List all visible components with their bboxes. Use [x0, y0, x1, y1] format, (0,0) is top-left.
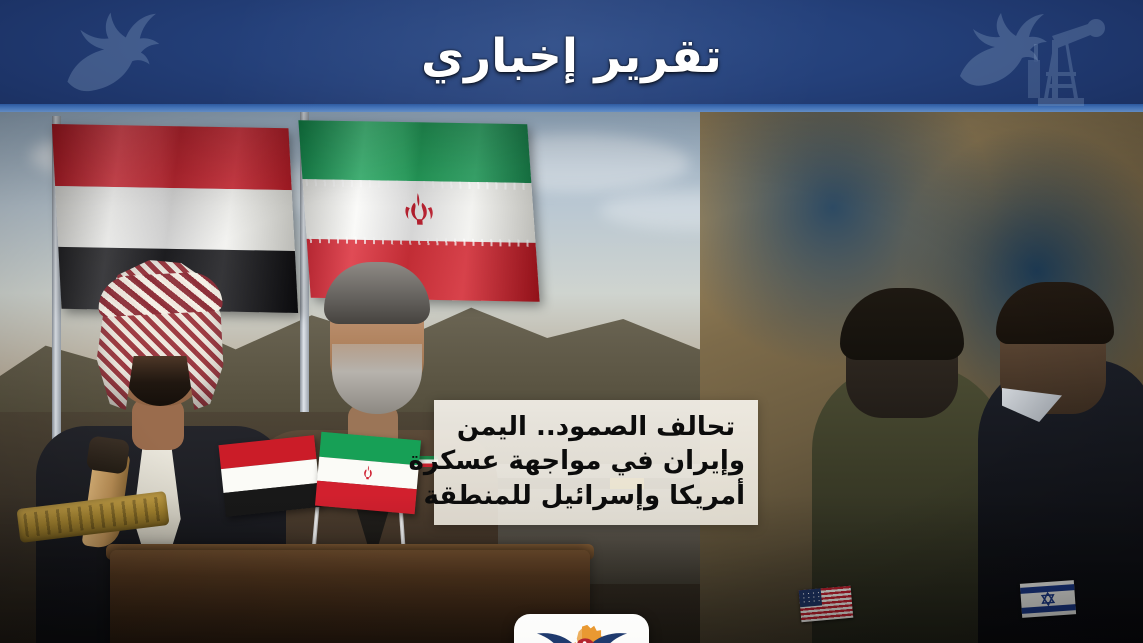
header-banner: تقرير إخباري — [0, 0, 1143, 112]
page-title: تقرير إخباري — [0, 0, 1143, 112]
hero-photo: تحالف الصمود.. اليمن وإيران في مواجهة عس… — [0, 112, 1143, 643]
hair — [324, 262, 430, 324]
agency-logo: سبأ وكالة الأنباء اليمنية سبأ Yemen News… — [514, 614, 649, 643]
headline-line-3: أمريكا وإسرائيل للمنطقة — [447, 479, 745, 513]
headline-line-1: تحالف الصمود.. اليمن — [447, 410, 745, 444]
flag-band-green — [298, 120, 531, 183]
israel-flag-patch — [1020, 580, 1076, 618]
dagger-hilt — [86, 435, 130, 474]
yemen-desk-flag — [218, 435, 321, 517]
flag-band-red — [52, 124, 292, 190]
iran-desk-flag — [315, 432, 421, 514]
iran-emblem-icon — [395, 189, 442, 234]
beard — [332, 344, 422, 414]
us-flag-canton — [799, 588, 822, 607]
iran-emblem-icon — [357, 462, 379, 484]
headline-panel: تحالف الصمود.. اليمن وإيران في مواجهة عس… — [434, 400, 758, 525]
star-of-david-icon — [1040, 591, 1056, 607]
saba-phoenix-bird-logo-icon: سبأ — [530, 621, 634, 643]
keffiyeh-band — [97, 271, 223, 317]
us-flag-patch — [799, 586, 854, 622]
headline-line-2: وإيران في مواجهة عسكرة — [447, 444, 745, 478]
news-graphic: تقرير إخباري — [0, 0, 1143, 643]
